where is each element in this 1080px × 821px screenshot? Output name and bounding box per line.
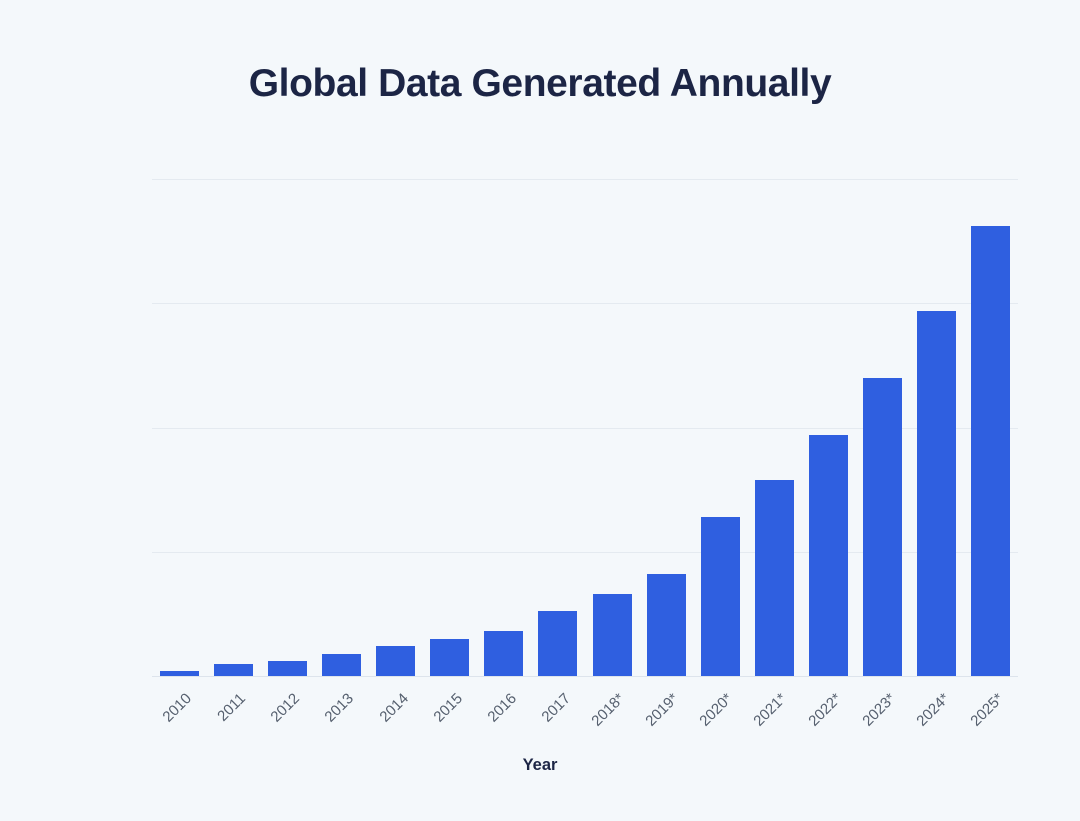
x-tick-label: 2020* xyxy=(688,690,737,739)
x-axis-title: Year xyxy=(0,756,1080,775)
x-tick-label: 2013 xyxy=(309,690,358,739)
bar-2011[interactable] xyxy=(214,664,253,676)
x-tick-label: 2011 xyxy=(200,690,249,739)
x-tick-label: 2024* xyxy=(904,690,953,739)
bar-2022-projected[interactable] xyxy=(809,435,848,676)
x-tick-label: 2025* xyxy=(958,690,1007,739)
bar-2017[interactable] xyxy=(538,611,577,676)
bar-2023-projected[interactable] xyxy=(863,378,902,676)
chart-title: Global Data Generated Annually xyxy=(0,62,1080,106)
bar-2019-projected[interactable] xyxy=(647,574,686,676)
bar-2018-projected[interactable] xyxy=(593,594,632,676)
x-tick-label: 2023* xyxy=(850,690,899,739)
x-tick-label: 2015 xyxy=(417,690,466,739)
x-axis-tick-labels: 201020112012201320142015201620172018*201… xyxy=(152,676,1018,756)
bar-2021-projected[interactable] xyxy=(755,480,794,676)
bar-2014[interactable] xyxy=(376,646,415,676)
bars-layer xyxy=(152,179,1018,676)
bar-2025-projected[interactable] xyxy=(971,226,1010,676)
x-tick-label: 2014 xyxy=(363,690,412,739)
bar-2012[interactable] xyxy=(268,661,307,676)
bar-chart-figure: Global Data Generated Annually Data Gene… xyxy=(0,0,1080,821)
x-tick-label: 2022* xyxy=(796,690,845,739)
bar-2020-projected[interactable] xyxy=(701,517,740,676)
plot-area: 050100150200 xyxy=(152,179,1018,676)
bar-2016[interactable] xyxy=(484,631,523,676)
x-tick-label: 2019* xyxy=(633,690,682,739)
x-tick-label: 2010 xyxy=(146,690,195,739)
bar-2015[interactable] xyxy=(430,639,469,676)
x-tick-label: 2016 xyxy=(471,690,520,739)
x-tick-label: 2012 xyxy=(255,690,304,739)
bar-2024-projected[interactable] xyxy=(917,311,956,676)
x-tick-label: 2017 xyxy=(525,690,574,739)
x-tick-label: 2021* xyxy=(742,690,791,739)
bar-2013[interactable] xyxy=(322,654,361,676)
x-tick-label: 2018* xyxy=(579,690,628,739)
